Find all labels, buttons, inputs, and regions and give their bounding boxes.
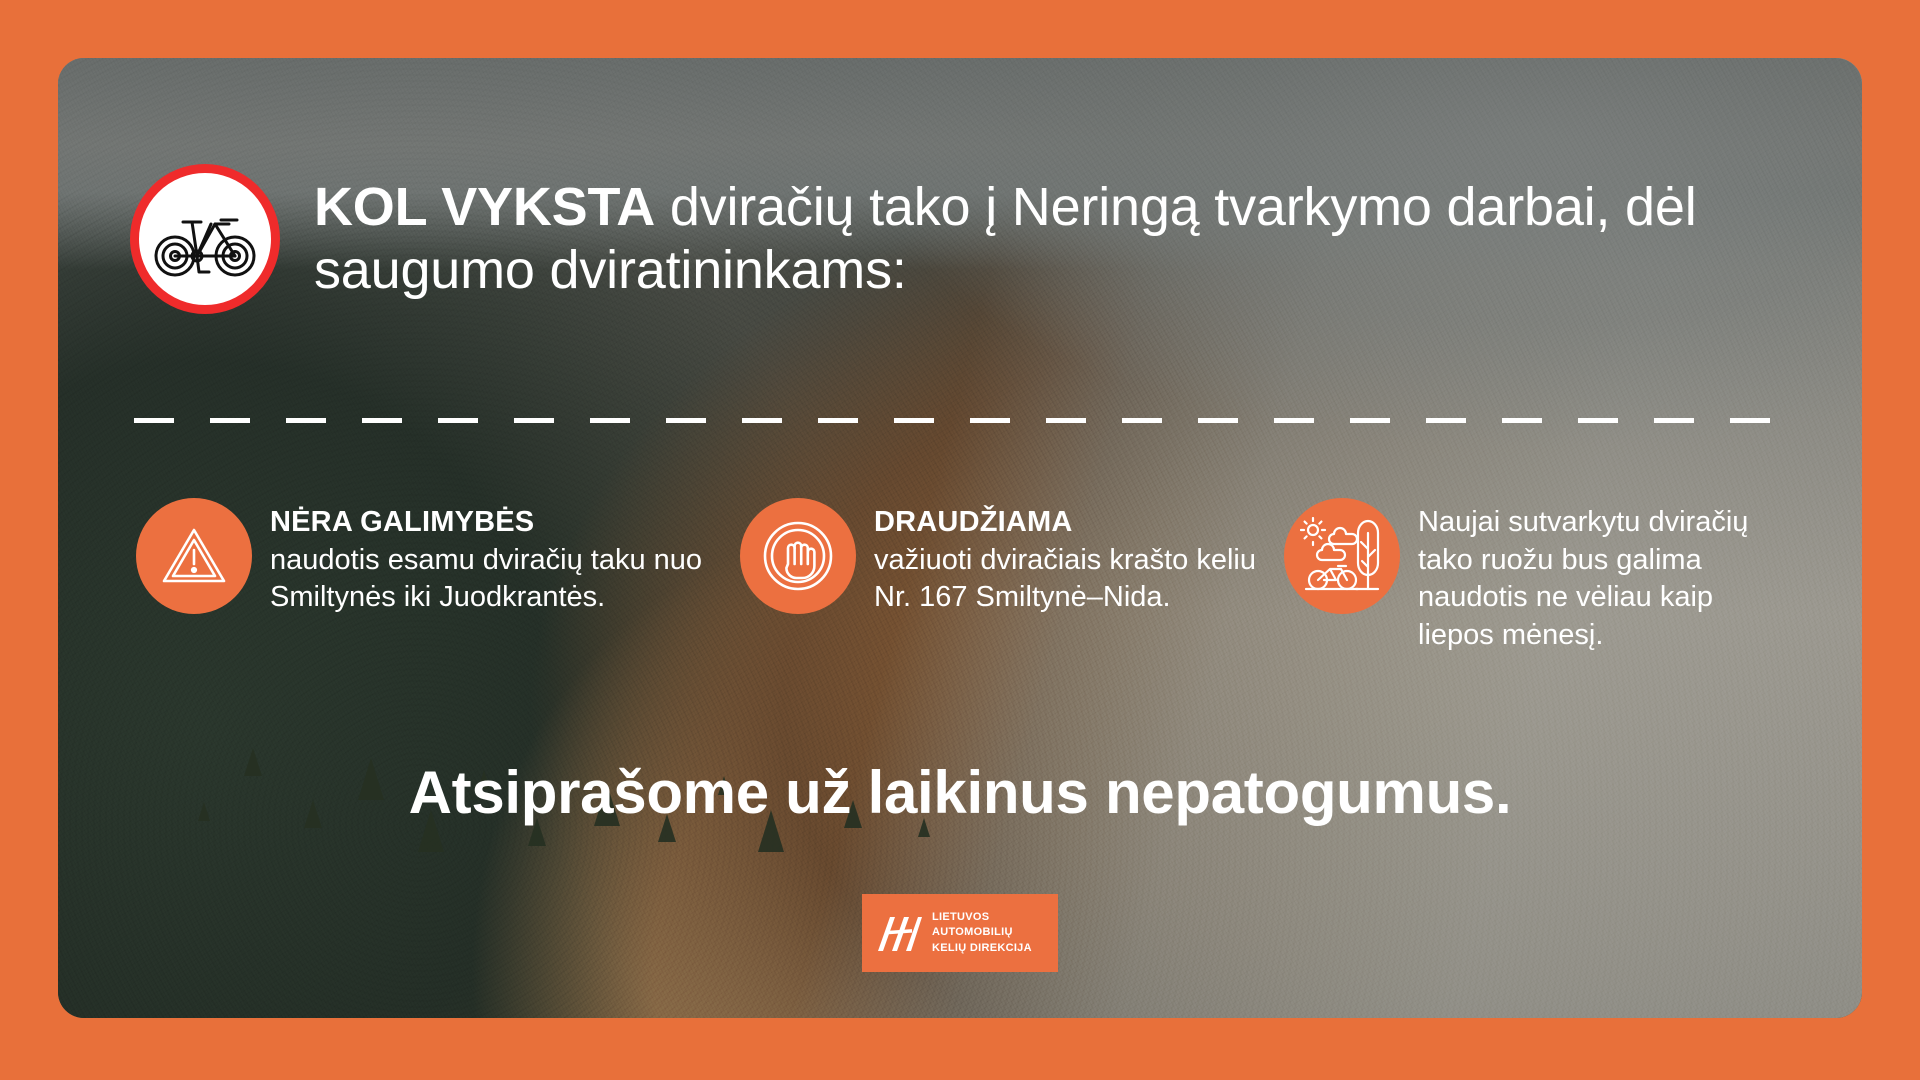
headline-block: KOL VYKSTA dviračių tako į Neringą tvark… <box>130 158 1772 314</box>
headline-strong: KOL VYKSTA <box>314 177 655 237</box>
bicycle-nature-icon <box>1284 498 1400 614</box>
info-column-title: NĖRA GALIMYBĖS <box>270 504 716 542</box>
info-column-body: važiuoti dviračiais krašto keliu Nr. 167… <box>874 544 1256 614</box>
warning-triangle-glyph <box>160 524 228 588</box>
dashed-divider <box>134 418 1784 423</box>
stop-hand-glyph <box>760 518 836 594</box>
info-column-text: Naujai sutvarkytu dviračių tako ruožu bu… <box>1418 498 1784 655</box>
info-column-body: naudotis esamu dviračių taku nuo Smiltyn… <box>270 544 702 614</box>
logo-line-2: AUTOMOBILIŲ <box>932 925 1032 941</box>
orange-frame: KOL VYKSTA dviračių tako į Neringą tvark… <box>0 0 1920 1080</box>
info-column-text: DRAUDŽIAMA važiuoti dviračiais krašto ke… <box>874 498 1260 617</box>
lakd-logo-text: LIETUVOS AUTOMOBILIŲ KELIŲ DIREKCIJA <box>932 910 1032 957</box>
no-bicycles-sign <box>130 164 280 314</box>
bicycle-nature-glyph <box>1300 517 1384 595</box>
logo-line-3: KELIŲ DIREKCIJA <box>932 941 1032 957</box>
info-column: Naujai sutvarkytu dviračių tako ruožu bu… <box>1284 498 1784 655</box>
info-columns: NĖRA GALIMYBĖS naudotis esamu dviračių t… <box>136 498 1784 655</box>
poster-content: KOL VYKSTA dviračių tako į Neringą tvark… <box>58 58 1862 1018</box>
lakd-logo-mark <box>876 911 922 955</box>
info-column-body: Naujai sutvarkytu dviračių tako ruožu bu… <box>1418 506 1748 651</box>
warning-triangle-icon <box>136 498 252 614</box>
page-headline: KOL VYKSTA dviračių tako į Neringą tvark… <box>314 158 1772 302</box>
info-column-text: NĖRA GALIMYBĖS naudotis esamu dviračių t… <box>270 498 716 617</box>
info-column-title: DRAUDŽIAMA <box>874 504 1260 542</box>
info-column: DRAUDŽIAMA važiuoti dviračiais krašto ke… <box>740 498 1260 655</box>
info-column: NĖRA GALIMYBĖS naudotis esamu dviračių t… <box>136 498 716 655</box>
poster-card: KOL VYKSTA dviračių tako į Neringą tvark… <box>58 58 1862 1018</box>
apology-text: Atsiprašome už laikinus nepatogumus. <box>58 758 1862 827</box>
logo-line-1: LIETUVOS <box>932 910 1032 926</box>
lakd-logo: LIETUVOS AUTOMOBILIŲ KELIŲ DIREKCIJA <box>862 894 1058 972</box>
stop-hand-icon <box>740 498 856 614</box>
bicycle-icon <box>153 196 257 282</box>
